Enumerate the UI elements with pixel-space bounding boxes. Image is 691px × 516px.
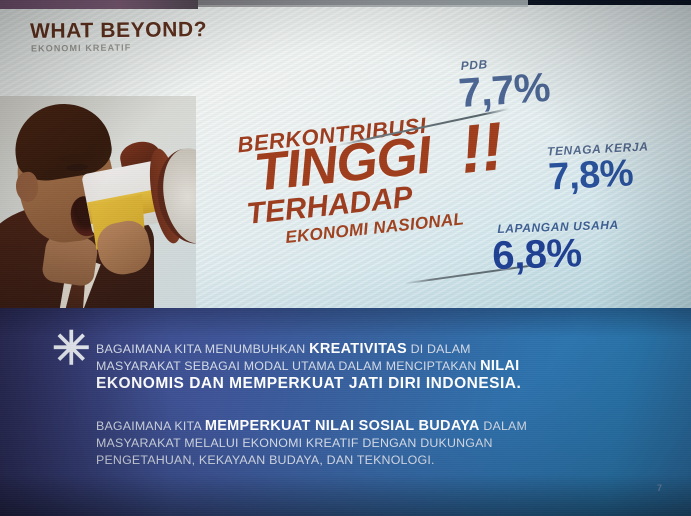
paragraph-1-line-2: MASYARAKAT SEBAGAI MODAL UTAMA DALAM MEN… bbox=[96, 358, 521, 375]
stat-pdb: PDB 7,7% bbox=[456, 53, 551, 114]
p2l1-text-c: DALAM bbox=[480, 419, 527, 433]
page-number: 7 bbox=[657, 483, 662, 493]
page-title: WHAT BEYOND? bbox=[30, 18, 207, 44]
paragraph-1-line-1: BAGAIMANA KITA MENUMBUHKAN KREATIVITAS D… bbox=[96, 341, 521, 358]
p1l1-text-a: BAGAIMANA KITA MENUMBUHKAN bbox=[96, 342, 309, 356]
presentation-slide-photo: WHAT BEYOND? EKONOMI KREATIF BERKONTRIBU… bbox=[0, 0, 691, 516]
stat-pdb-value: 7,7% bbox=[457, 68, 551, 114]
asterisk-icon: ✳ bbox=[52, 333, 86, 367]
lower-panel-edge-shading bbox=[0, 308, 691, 516]
p2l2-text-a: MASYARAKAT MELALUI EKONOMI KREATIF DENGA… bbox=[96, 436, 493, 450]
question-paragraph-2: BAGAIMANA KITA MEMPERKUAT NILAI SOSIAL B… bbox=[96, 418, 527, 469]
slide-lower-section bbox=[0, 308, 691, 516]
screen-bezel-strip-right bbox=[198, 0, 528, 7]
p1l3-emphasis-ekonomis: EKONOMIS DAN MEMPERKUAT JATI DIRI INDONE… bbox=[96, 375, 521, 392]
question-paragraph-1: BAGAIMANA KITA MENUMBUHKAN KREATIVITAS D… bbox=[96, 341, 521, 393]
paragraph-1-line-3: EKONOMIS DAN MEMPERKUAT JATI DIRI INDONE… bbox=[96, 375, 521, 393]
paragraph-2-line-2: MASYARAKAT MELALUI EKONOMI KREATIF DENGA… bbox=[96, 435, 527, 452]
stat-tenaga-kerja-value: 7,8% bbox=[548, 154, 651, 196]
p2l1-emphasis-sosial-budaya: MEMPERKUAT NILAI SOSIAL BUDAYA bbox=[205, 418, 480, 434]
paragraph-2-line-3: PENGETAHUAN, KEKAYAAN BUDAYA, DAN TEKNOL… bbox=[96, 452, 527, 469]
p2l3-text-a: PENGETAHUAN, KEKAYAAN BUDAYA, DAN TEKNOL… bbox=[96, 453, 435, 467]
stat-lapangan-usaha: LAPANGAN USAHA 6,8% bbox=[491, 218, 620, 276]
screen-bezel-strip-left bbox=[0, 0, 198, 9]
p2l1-text-a: BAGAIMANA KITA bbox=[96, 419, 205, 433]
p1l1-text-c: DI DALAM bbox=[407, 342, 471, 356]
stat-tenaga-kerja: TENAGA KERJA 7,8% bbox=[547, 139, 651, 196]
p1l2-emphasis-nilai: NILAI bbox=[480, 358, 519, 374]
megaphone-man-photo bbox=[0, 96, 196, 313]
page-subtitle: EKONOMI KREATIF bbox=[31, 42, 131, 53]
stat-lapangan-usaha-value: 6,8% bbox=[492, 233, 621, 276]
p1l2-text-a: MASYARAKAT SEBAGAI MODAL UTAMA DALAM MEN… bbox=[96, 359, 480, 373]
paragraph-2-line-1: BAGAIMANA KITA MEMPERKUAT NILAI SOSIAL B… bbox=[96, 418, 527, 435]
p1l1-emphasis-kreativitas: KREATIVITAS bbox=[309, 341, 407, 357]
